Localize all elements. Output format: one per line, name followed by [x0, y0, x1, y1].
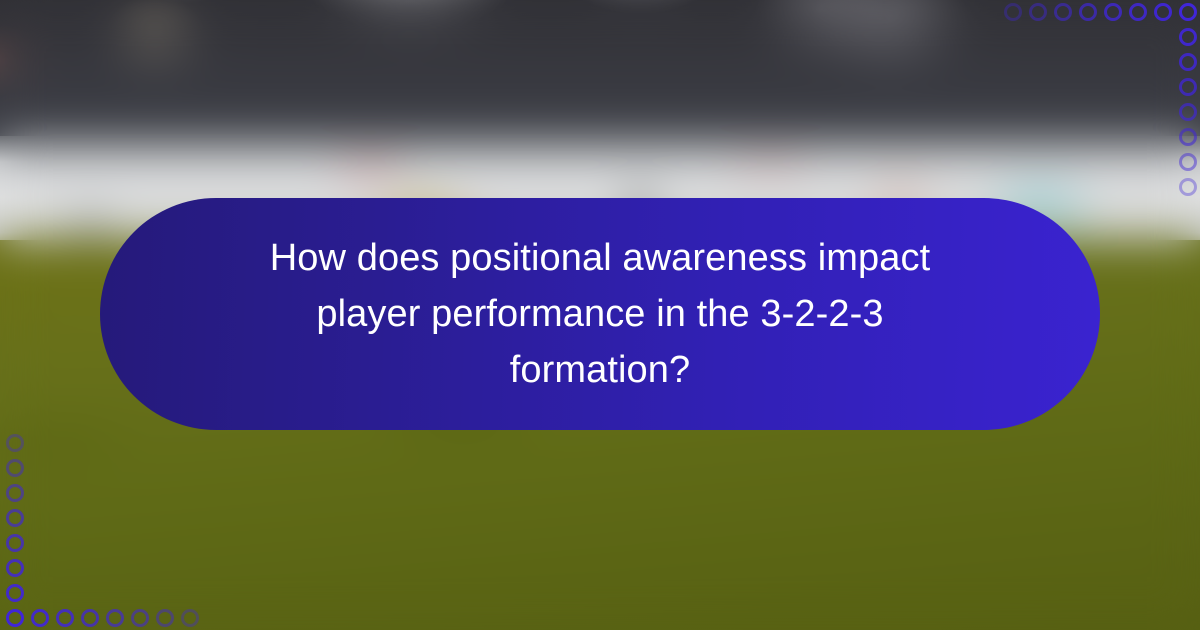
decorative-dot: [1129, 3, 1147, 21]
decorative-dot: [6, 609, 24, 627]
decorative-dot: [1104, 3, 1122, 21]
decorative-dot: [56, 609, 74, 627]
decorative-dot: [1179, 178, 1197, 196]
decorative-dot: [6, 484, 24, 502]
decorative-dots-top-right: [1000, 0, 1200, 200]
decorative-dot: [1179, 3, 1197, 21]
decorative-dot: [1179, 78, 1197, 96]
decorative-dot: [1079, 3, 1097, 21]
decorative-dot: [1179, 28, 1197, 46]
decorative-dot: [1179, 53, 1197, 71]
decorative-dot: [6, 584, 24, 602]
decorative-dot: [1179, 103, 1197, 121]
decorative-dot: [6, 509, 24, 527]
decorative-dot: [1004, 3, 1022, 21]
decorative-dots-bottom-left: [0, 430, 200, 630]
decorative-dot: [6, 534, 24, 552]
poster-canvas: How does positional awareness impact pla…: [0, 0, 1200, 630]
decorative-dot: [106, 609, 124, 627]
decorative-dot: [131, 609, 149, 627]
decorative-dot: [1179, 153, 1197, 171]
decorative-dot: [81, 609, 99, 627]
decorative-dot: [1179, 128, 1197, 146]
question-text: How does positional awareness impact pla…: [230, 230, 970, 398]
decorative-dot: [6, 559, 24, 577]
decorative-dot: [1054, 3, 1072, 21]
decorative-dot: [156, 609, 174, 627]
decorative-dot: [181, 609, 199, 627]
question-card: How does positional awareness impact pla…: [100, 198, 1100, 430]
decorative-dot: [1154, 3, 1172, 21]
decorative-dot: [6, 459, 24, 477]
decorative-dot: [1029, 3, 1047, 21]
decorative-dot: [31, 609, 49, 627]
decorative-dot: [6, 434, 24, 452]
